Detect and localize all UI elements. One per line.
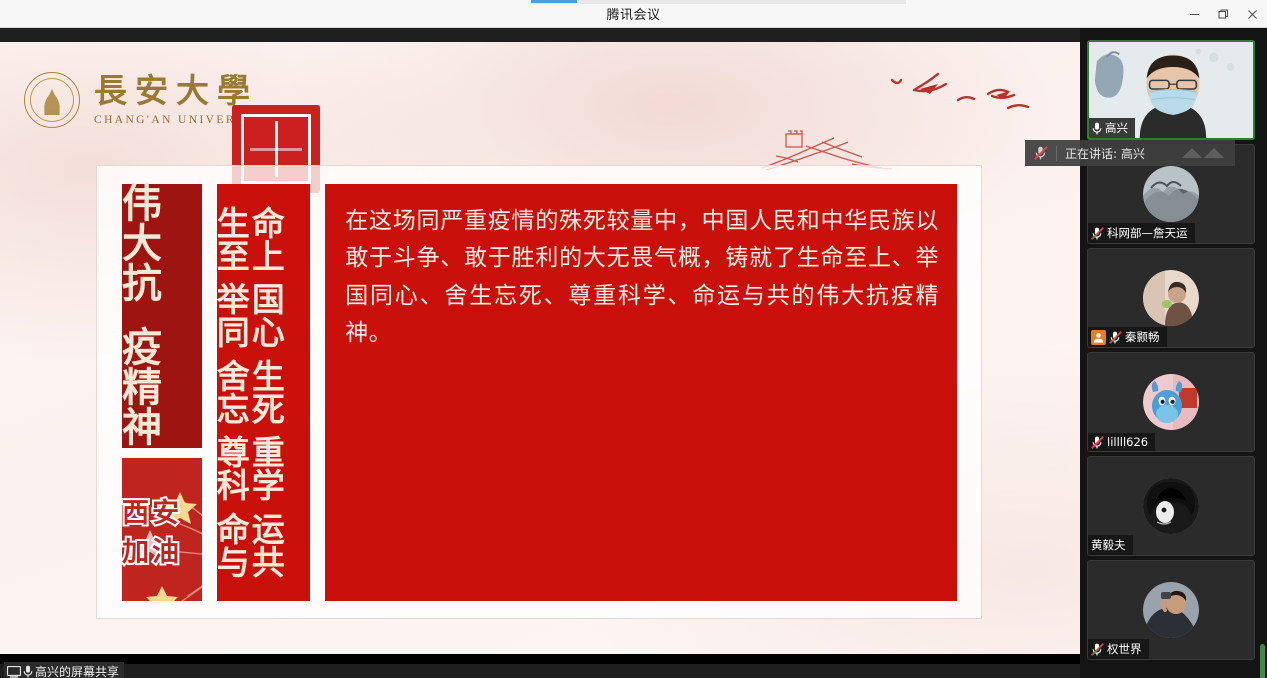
shared-screen-stage[interactable]: 長安大學 CHANG'AN UNIVERSITY [0, 28, 1080, 678]
participant-namebar: lillll626 [1088, 433, 1155, 451]
participant-name: 秦颢畅 [1125, 329, 1160, 345]
chevron-up-icon [1180, 145, 1226, 161]
slogan-1: 生命至上 [217, 207, 310, 273]
university-name-cn: 長安大學 [94, 74, 271, 107]
slide-content-card: 伟大抗 疫精神 [96, 165, 982, 619]
participant-tile[interactable]: lillll626 [1087, 352, 1255, 452]
tencent-meeting-window: 腾讯会议 [0, 0, 1267, 678]
participant-name: 高兴 [1105, 120, 1128, 136]
mic-muted-icon [1091, 436, 1104, 449]
participant-namebar: 科网部—詹天运 [1088, 223, 1195, 243]
slogan-4: 尊重科学 [217, 436, 310, 502]
firework-panel: 西安加油 [122, 458, 202, 601]
mic-muted-icon [1091, 227, 1104, 240]
avatar [1143, 166, 1199, 222]
title-bar: 腾讯会议 [0, 0, 1267, 28]
participant-name: 黄毅夫 [1091, 537, 1126, 553]
participant-namebar: 秦颢畅 [1088, 327, 1167, 347]
share-status-bar: 高兴的屏幕共享 [0, 664, 1080, 678]
rail-scrollbar-track[interactable] [1261, 56, 1266, 678]
share-owner-text: 高兴的屏幕共享 [35, 663, 119, 678]
active-tab-indicator[interactable] [531, 0, 577, 3]
mic-muted-icon [1034, 146, 1048, 160]
share-top-border [0, 28, 1080, 42]
speaking-toast-text: 正在讲话: 高兴 [1065, 145, 1145, 162]
avatar [1143, 270, 1199, 326]
title-line-2: 疫精神 [122, 328, 202, 448]
university-crest-icon [24, 72, 80, 128]
slogan-5: 命运与共 [217, 513, 310, 579]
slogan-2: 举国同心 [217, 283, 310, 349]
participant-name: 科网部—詹天运 [1107, 225, 1188, 241]
minimize-button[interactable] [1180, 0, 1209, 28]
mic-muted-icon [1109, 331, 1122, 344]
toast-divider [1056, 146, 1057, 161]
close-button[interactable] [1238, 0, 1267, 28]
participant-name: 权世界 [1107, 641, 1142, 657]
title-panel: 伟大抗 疫精神 [122, 184, 202, 448]
slogans-panel: 生命至上 举国同心 舍生忘死 尊重科学 命运与共 [217, 184, 310, 601]
participant-rail[interactable]: 高兴 科网部—詹天运 [1080, 28, 1267, 678]
avatar [1143, 374, 1199, 430]
participant-namebar: 权世界 [1088, 639, 1149, 659]
rail-scrollbar-thumb[interactable] [1260, 644, 1265, 678]
mic-muted-icon [1091, 643, 1104, 656]
maximize-button[interactable] [1209, 0, 1238, 28]
tab-strip [531, 0, 906, 4]
paragraph-text: 在这场同严重疫情的殊死较量中，中国人民和中华民族以敢于斗争、敢于胜利的大无畏气概… [345, 203, 939, 352]
avatar [1143, 582, 1199, 638]
firework-text: 西安加油 [122, 491, 202, 569]
host-badge-icon [1091, 330, 1106, 345]
window-title: 腾讯会议 [606, 4, 660, 23]
window-controls [1180, 0, 1267, 28]
participant-namebar: 高兴 [1089, 118, 1135, 138]
participant-tile[interactable]: 权世界 [1087, 560, 1255, 660]
great-wall-decoration [762, 124, 992, 170]
mic-on-icon [1092, 122, 1102, 135]
speaking-toast: 正在讲话: 高兴 [1025, 140, 1235, 166]
microphone-icon [23, 665, 33, 678]
monitor-icon [7, 666, 21, 678]
slide-bottom-strip [0, 654, 1080, 664]
flying-birds-decoration [880, 70, 1050, 130]
presentation-slide: 長安大學 CHANG'AN UNIVERSITY [0, 42, 1080, 664]
participant-tile[interactable]: 秦颢畅 [1087, 248, 1255, 348]
participant-tile[interactable]: 黄毅夫 [1087, 456, 1255, 556]
title-line-1: 伟大抗 [122, 184, 202, 304]
paragraph-panel: 在这场同严重疫情的殊死较量中，中国人民和中华民族以敢于斗争、敢于胜利的大无畏气概… [325, 184, 957, 601]
participant-name: lillll626 [1107, 435, 1148, 449]
slogan-3: 舍生忘死 [217, 360, 310, 426]
left-column: 伟大抗 疫精神 [122, 184, 202, 601]
participant-namebar: 黄毅夫 [1088, 535, 1133, 555]
share-status-label: 高兴的屏幕共享 [4, 662, 124, 678]
participant-tile[interactable]: 高兴 [1087, 40, 1255, 140]
avatar [1143, 478, 1199, 534]
